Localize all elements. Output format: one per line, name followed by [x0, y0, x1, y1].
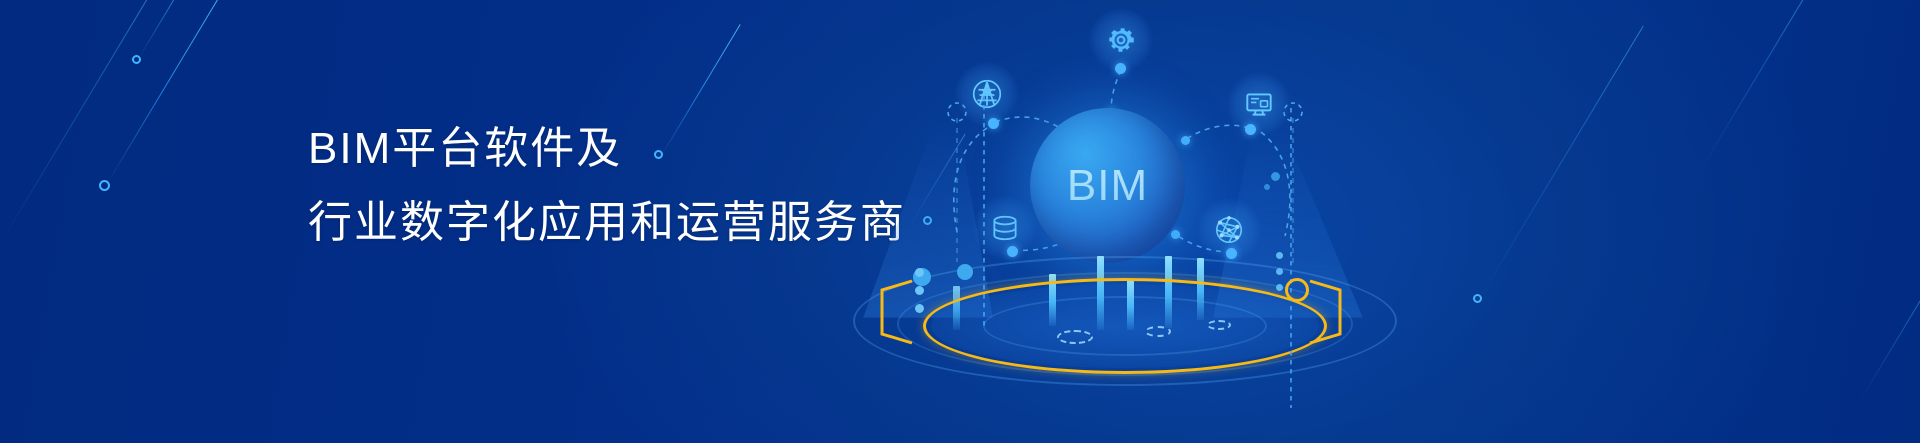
decorative-ring-5 [1473, 294, 1482, 303]
connector-dot-tower [988, 118, 999, 129]
decorative-diagonal-line-7 [1700, 0, 1812, 171]
decorative-ring-2 [132, 55, 141, 64]
radar-marker-1 [1057, 330, 1093, 344]
decorative-diagonal-line-8 [1860, 280, 1920, 401]
monitor-icon [1242, 87, 1276, 121]
radar-marker-3 [1207, 320, 1231, 330]
connector-dot-monitor [1245, 124, 1256, 135]
radar-marker-2 [1145, 326, 1171, 337]
dot [915, 286, 924, 295]
gear-icon [1104, 23, 1138, 57]
decorative-diagonal-line-2 [137, 0, 215, 61]
connector-dot-gear [1115, 63, 1126, 74]
power-tower-icon [970, 77, 1004, 111]
dot [915, 304, 924, 313]
bracket-left [876, 278, 916, 346]
decorative-diagonal-line-3 [0, 0, 150, 244]
decorative-ring-1 [99, 180, 110, 191]
decorative-diagonal-line-6 [1478, 26, 1644, 301]
dot [915, 268, 924, 277]
dotted-guide-right [1290, 108, 1292, 408]
bim-illustration: BIM [845, 0, 1405, 443]
dot-stack-right [1276, 252, 1283, 291]
yellow-accent-ring [1285, 278, 1309, 302]
dot [1276, 268, 1283, 275]
dotted-guide-left [983, 96, 985, 328]
dot [1276, 252, 1283, 259]
dot-stack-left [915, 268, 924, 313]
accent-dot-small [1271, 172, 1280, 181]
node-power-tower[interactable] [955, 62, 1019, 126]
accent-dot-left [957, 264, 973, 280]
bim-hero-banner: BIM平台软件及 行业数字化应用和运营服务商 [0, 0, 1920, 443]
accent-dot-tiny [1264, 184, 1270, 190]
dot [1276, 284, 1283, 291]
bracket-right [1306, 278, 1346, 346]
node-monitor[interactable] [1227, 72, 1291, 136]
headline-line-1: BIM平台软件及 [308, 112, 928, 186]
decorative-diagonal-line-1 [105, 0, 224, 187]
